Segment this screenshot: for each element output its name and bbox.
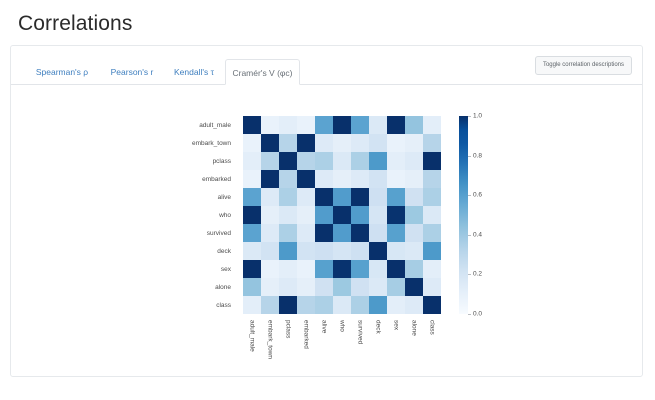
- heatmap-cell: [333, 224, 351, 242]
- heatmap-cell: [369, 260, 387, 278]
- y-axis-tick-label: adult_male: [111, 116, 237, 134]
- heatmap-cell: [279, 296, 297, 314]
- heatmap-cell: [261, 134, 279, 152]
- heatmap-cell: [369, 188, 387, 206]
- y-axis-tick-label: alone: [111, 278, 237, 296]
- heatmap-cell: [297, 296, 315, 314]
- x-axis-tick-label: who: [339, 320, 346, 332]
- heatmap-cell: [315, 170, 333, 188]
- heatmap-cell: [333, 152, 351, 170]
- y-axis-tick-label: pclass: [111, 152, 237, 170]
- colorbar-tick-label: 0.6: [473, 192, 482, 199]
- heatmap-cell: [351, 116, 369, 134]
- colorbar-tick-label: 1.0: [473, 113, 482, 120]
- heatmap-y-axis-labels: adult_maleembark_townpclassembarkedalive…: [111, 116, 237, 314]
- heatmap-cell: [351, 278, 369, 296]
- tab-3[interactable]: Cramér's V (φc): [225, 59, 300, 85]
- x-axis-tick-label: alone: [411, 320, 418, 336]
- heatmap-cell: [387, 296, 405, 314]
- heatmap-cell: [261, 260, 279, 278]
- heatmap-cell: [297, 188, 315, 206]
- x-axis-tick: sex: [387, 317, 405, 377]
- heatmap-cell: [243, 260, 261, 278]
- heatmap-cell: [333, 188, 351, 206]
- colorbar-tick-mark: [468, 235, 471, 236]
- colorbar-tick-mark: [468, 195, 471, 196]
- heatmap-cell: [333, 206, 351, 224]
- heatmap-cell: [243, 188, 261, 206]
- heatmap-cell: [369, 278, 387, 296]
- heatmap-cell: [261, 242, 279, 260]
- heatmap-cell: [369, 116, 387, 134]
- heatmap-cell: [297, 278, 315, 296]
- heatmap-cell: [243, 134, 261, 152]
- heatmap-cell: [405, 296, 423, 314]
- tab-0[interactable]: Spearman's ρ: [23, 59, 101, 85]
- toggle-correlation-descriptions-button[interactable]: Toggle correlation descriptions: [535, 56, 632, 75]
- x-axis-tick-label: class: [429, 320, 436, 335]
- heatmap-grid: [243, 116, 441, 314]
- heatmap-cell: [243, 152, 261, 170]
- heatmap-cell: [279, 116, 297, 134]
- heatmap-cell: [297, 134, 315, 152]
- colorbar-tick-mark: [468, 116, 471, 117]
- heatmap-cell: [369, 134, 387, 152]
- x-axis-tick: deck: [369, 317, 387, 377]
- heatmap-cell: [351, 170, 369, 188]
- heatmap-cell: [243, 224, 261, 242]
- heatmap-cell: [261, 152, 279, 170]
- heatmap-cell: [423, 116, 441, 134]
- heatmap-cell: [423, 224, 441, 242]
- heatmap-cell: [405, 170, 423, 188]
- colorbar-tick-mark: [468, 156, 471, 157]
- colorbar-tick-label: 0.0: [473, 311, 482, 318]
- heatmap-cell: [333, 296, 351, 314]
- heatmap-cell: [297, 116, 315, 134]
- heatmap-cell: [405, 116, 423, 134]
- heatmap-cell: [315, 242, 333, 260]
- x-axis-tick-label: adult_male: [249, 320, 256, 352]
- heatmap-cell: [423, 278, 441, 296]
- page-title: Correlations: [0, 0, 655, 36]
- heatmap-cell: [405, 260, 423, 278]
- heatmap-cell: [261, 188, 279, 206]
- x-axis-tick: adult_male: [243, 317, 261, 377]
- heatmap-cell: [243, 242, 261, 260]
- heatmap-cell: [351, 224, 369, 242]
- correlation-heatmap: adult_maleembark_townpclassembarkedalive…: [11, 86, 644, 376]
- heatmap-cell: [315, 296, 333, 314]
- heatmap-cell: [297, 242, 315, 260]
- heatmap-cell: [279, 134, 297, 152]
- heatmap-cell: [387, 224, 405, 242]
- heatmap-cell: [369, 242, 387, 260]
- heatmap-cell: [279, 260, 297, 278]
- heatmap-cell: [351, 296, 369, 314]
- heatmap-cell: [333, 134, 351, 152]
- heatmap-cell: [297, 260, 315, 278]
- heatmap-cell: [279, 170, 297, 188]
- heatmap-cell: [315, 152, 333, 170]
- heatmap-cell: [405, 152, 423, 170]
- heatmap-cell: [387, 152, 405, 170]
- heatmap-cell: [369, 206, 387, 224]
- y-axis-tick-label: alive: [111, 188, 237, 206]
- tab-2[interactable]: Kendall's τ: [163, 59, 225, 85]
- heatmap-cell: [315, 224, 333, 242]
- y-axis-tick-label: who: [111, 206, 237, 224]
- heatmap-cell: [387, 260, 405, 278]
- heatmap-cell: [279, 278, 297, 296]
- heatmap-cell: [315, 134, 333, 152]
- x-axis-tick: alone: [405, 317, 423, 377]
- x-axis-tick: pclass: [279, 317, 297, 377]
- x-axis-tick-label: sex: [393, 320, 400, 330]
- heatmap-cell: [333, 242, 351, 260]
- y-axis-tick-label: class: [111, 296, 237, 314]
- heatmap-cell: [387, 134, 405, 152]
- heatmap-cell: [261, 206, 279, 224]
- x-axis-tick: embarked: [297, 317, 315, 377]
- heatmap-cell: [243, 116, 261, 134]
- colorbar-tick-label: 0.2: [473, 271, 482, 278]
- heatmap-cell: [315, 278, 333, 296]
- heatmap-cell: [333, 170, 351, 188]
- heatmap-cell: [279, 152, 297, 170]
- heatmap-cell: [243, 170, 261, 188]
- colorbar-tick-mark: [468, 274, 471, 275]
- heatmap-cell: [387, 206, 405, 224]
- heatmap-cell: [243, 206, 261, 224]
- correlations-card: Spearman's ρPearson's rKendall's τCramér…: [10, 45, 643, 377]
- y-axis-tick-label: embarked: [111, 170, 237, 188]
- colorbar-tick-mark: [468, 314, 471, 315]
- x-axis-tick-label: embark_town: [267, 320, 274, 359]
- y-axis-tick-label: embark_town: [111, 134, 237, 152]
- heatmap-cell: [351, 134, 369, 152]
- heatmap-cell: [405, 206, 423, 224]
- colorbar-tick-label: 0.8: [473, 152, 482, 159]
- x-axis-tick-label: alive: [321, 320, 328, 333]
- heatmap-cell: [423, 296, 441, 314]
- heatmap-cell: [243, 278, 261, 296]
- y-axis-tick-label: deck: [111, 242, 237, 260]
- x-axis-tick: who: [333, 317, 351, 377]
- heatmap-cell: [387, 188, 405, 206]
- heatmap-cell: [243, 296, 261, 314]
- heatmap-cell: [261, 170, 279, 188]
- heatmap-cell: [351, 152, 369, 170]
- heatmap-cell: [405, 242, 423, 260]
- heatmap-cell: [333, 116, 351, 134]
- heatmap-cell: [423, 206, 441, 224]
- heatmap-cell: [351, 260, 369, 278]
- heatmap-cell: [261, 296, 279, 314]
- heatmap-cell: [279, 206, 297, 224]
- heatmap-cell: [333, 278, 351, 296]
- heatmap-cell: [279, 188, 297, 206]
- heatmap-cell: [279, 242, 297, 260]
- x-axis-tick: embark_town: [261, 317, 279, 377]
- heatmap-cell: [261, 278, 279, 296]
- x-axis-tick-label: pclass: [285, 320, 292, 338]
- heatmap-cell: [315, 116, 333, 134]
- heatmap-x-axis-labels: adult_maleembark_townpclassembarkedalive…: [243, 317, 441, 377]
- heatmap-cell: [351, 206, 369, 224]
- heatmap-cell: [315, 188, 333, 206]
- heatmap-cell: [387, 242, 405, 260]
- colorbar-tick-label: 0.4: [473, 231, 482, 238]
- heatmap-cell: [315, 260, 333, 278]
- heatmap-cell: [297, 206, 315, 224]
- heatmap-cell: [387, 170, 405, 188]
- heatmap-cell: [315, 206, 333, 224]
- colorbar-gradient: [459, 116, 468, 314]
- heatmap-cell: [279, 224, 297, 242]
- heatmap-cell: [261, 116, 279, 134]
- heatmap-cell: [423, 134, 441, 152]
- heatmap-cell: [423, 188, 441, 206]
- x-axis-tick: alive: [315, 317, 333, 377]
- x-axis-tick-label: deck: [375, 320, 382, 334]
- heatmap-cell: [351, 188, 369, 206]
- tab-1[interactable]: Pearson's r: [101, 59, 163, 85]
- heatmap-cell: [405, 224, 423, 242]
- heatmap-cell: [333, 260, 351, 278]
- y-axis-tick-label: survived: [111, 224, 237, 242]
- heatmap-cell: [423, 242, 441, 260]
- x-axis-tick-label: survived: [357, 320, 364, 344]
- heatmap-cell: [423, 170, 441, 188]
- heatmap-cell: [351, 242, 369, 260]
- heatmap-cell: [387, 116, 405, 134]
- heatmap-cell: [369, 152, 387, 170]
- heatmap-cell: [423, 152, 441, 170]
- heatmap-cell: [261, 224, 279, 242]
- heatmap-cell: [405, 278, 423, 296]
- y-axis-tick-label: sex: [111, 260, 237, 278]
- heatmap-cell: [369, 224, 387, 242]
- heatmap-cell: [405, 134, 423, 152]
- heatmap-cell: [297, 152, 315, 170]
- heatmap-cell: [369, 170, 387, 188]
- x-axis-tick: survived: [351, 317, 369, 377]
- heatmap-cell: [405, 188, 423, 206]
- x-axis-tick: class: [423, 317, 441, 377]
- x-axis-tick-label: embarked: [303, 320, 310, 349]
- heatmap-cell: [423, 260, 441, 278]
- heatmap-cell: [369, 296, 387, 314]
- heatmap-cell: [387, 278, 405, 296]
- heatmap-cell: [297, 224, 315, 242]
- heatmap-cell: [297, 170, 315, 188]
